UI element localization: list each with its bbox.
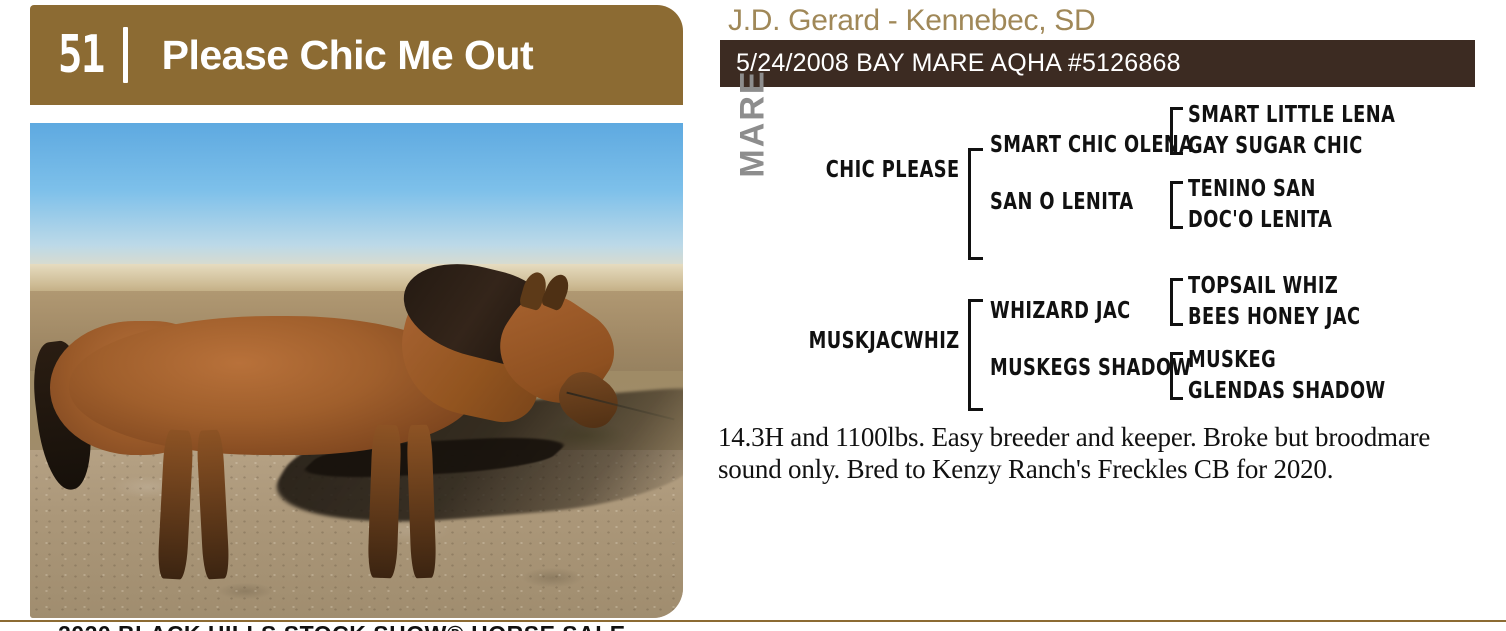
page-footer: 2020 BLACK HILLS STOCK SHOW® HORSE SALE bbox=[0, 620, 1506, 631]
pedigree-bracket-gen2-dam-sire bbox=[1170, 278, 1183, 326]
horse-photo bbox=[30, 123, 683, 618]
pedigree-bracket-gen2-dam-dam bbox=[1170, 352, 1183, 400]
lot-left-panel: 51 Please Chic Me Out bbox=[30, 5, 683, 613]
pedigree-bracket-gen2-sire-sire bbox=[1170, 107, 1183, 155]
pedigree-sire-sire-dam: GAY SUGAR CHIC bbox=[1188, 133, 1363, 159]
horse-description: 14.3H and 1100lbs. Easy breeder and keep… bbox=[718, 422, 1436, 486]
horse-info-text: 5/24/2008 BAY MARE AQHA #5126868 bbox=[736, 49, 1181, 78]
pedigree-bracket-gen2-sire-dam bbox=[1170, 181, 1183, 229]
pedigree-dam-dam-dam: GLENDAS SHADOW bbox=[1188, 378, 1386, 404]
photo-sky bbox=[30, 123, 683, 272]
pedigree-dam-dam: MUSKEGS SHADOW bbox=[990, 355, 1192, 381]
horse-leg bbox=[406, 425, 436, 579]
horse-info-bar: 5/24/2008 BAY MARE AQHA #5126868 bbox=[720, 40, 1475, 87]
pedigree-bracket-gen1-sire bbox=[968, 148, 983, 260]
pedigree-dam: MUSKJACWHIZ bbox=[809, 328, 960, 354]
pedigree-dam-sire: WHIZARD JAC bbox=[990, 298, 1131, 324]
pedigree-dam-dam-sire: MUSKEG bbox=[1188, 347, 1276, 373]
lot-divider bbox=[123, 27, 128, 83]
pedigree-chart: CHIC PLEASE SMART CHIC OLENA SAN O LENIT… bbox=[700, 96, 1506, 416]
pedigree-sire-dam: SAN O LENITA bbox=[990, 189, 1134, 215]
lot-header-bar: 51 Please Chic Me Out bbox=[30, 5, 683, 105]
lot-number: 51 bbox=[58, 29, 104, 81]
consignor-line: J.D. Gerard - Kennebec, SD bbox=[728, 4, 1095, 38]
footer-sale-title: 2020 BLACK HILLS STOCK SHOW® HORSE SALE bbox=[58, 621, 626, 631]
lot-right-panel: J.D. Gerard - Kennebec, SD 5/24/2008 BAY… bbox=[700, 0, 1506, 631]
catalog-page: 51 Please Chic Me Out bbox=[0, 0, 1506, 631]
pedigree-sire-dam-dam: DOC'O LENITA bbox=[1188, 207, 1332, 233]
pedigree-sire-sire-sire: SMART LITTLE LENA bbox=[1188, 102, 1395, 128]
pedigree-bracket-gen1-dam bbox=[968, 299, 983, 411]
pedigree-dam-sire-dam: BEES HONEY JAC bbox=[1188, 304, 1361, 330]
pedigree-sire-dam-sire: TENINO SAN bbox=[1188, 176, 1316, 202]
pedigree-sire-sire: SMART CHIC OLENA bbox=[990, 132, 1193, 158]
horse-name-title: Please Chic Me Out bbox=[162, 32, 534, 79]
pedigree-dam-sire-sire: TOPSAIL WHIZ bbox=[1188, 273, 1338, 299]
horse-leg bbox=[367, 424, 401, 578]
pedigree-sire: CHIC PLEASE bbox=[826, 157, 960, 183]
